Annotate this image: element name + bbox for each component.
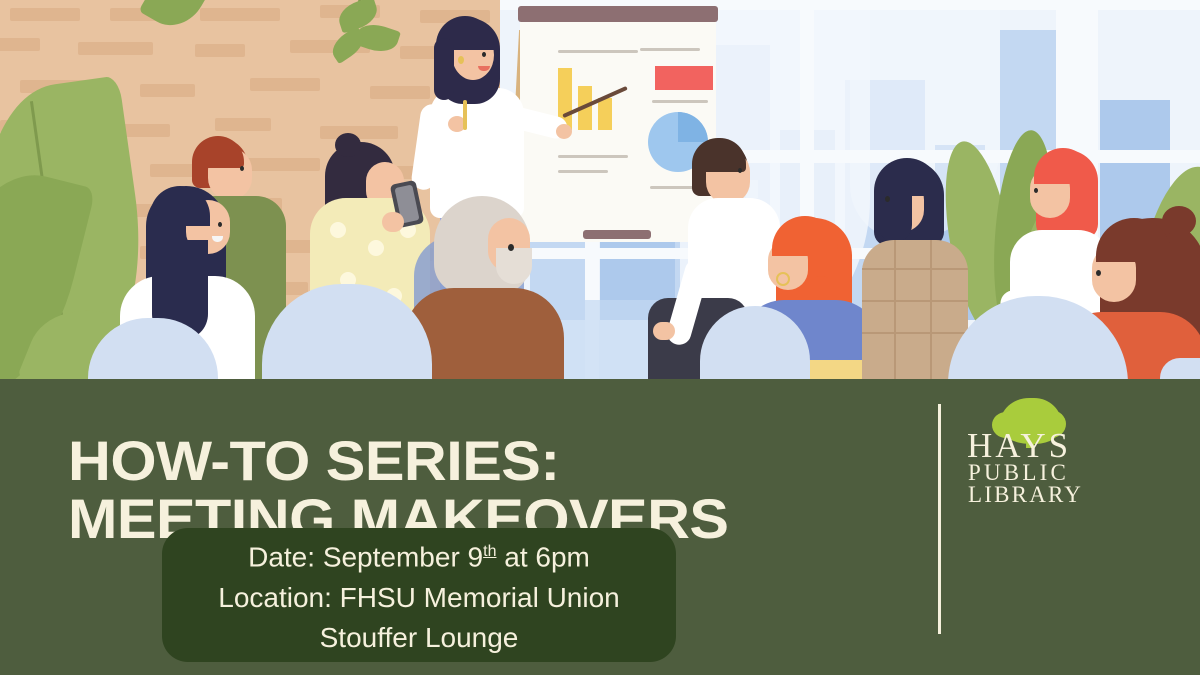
logo-text-library: LIBRARY bbox=[968, 482, 1083, 508]
flipchart-squiggle-5 bbox=[558, 170, 608, 173]
hays-public-library-logo: HAYS PUBLIC LIBRARY bbox=[962, 398, 1082, 508]
event-date-line: Date: September 9th at 6pm bbox=[248, 532, 590, 577]
illustration-artwork bbox=[0, 0, 1200, 379]
vertical-divider bbox=[938, 404, 941, 634]
event-location-line-1: Location: FHSU Memorial Union bbox=[218, 578, 620, 618]
flipchart-red-block bbox=[655, 66, 713, 90]
title-line-1: HOW-TO SERIES: bbox=[68, 432, 980, 490]
event-date-suffix: at 6pm bbox=[496, 542, 589, 573]
event-details-box: Date: September 9th at 6pm Location: FHS… bbox=[162, 528, 676, 662]
flipchart-bar-3 bbox=[598, 98, 612, 130]
event-date-ordinal: th bbox=[483, 543, 496, 560]
flipchart-squiggle-2 bbox=[640, 48, 700, 51]
flipchart-squiggle-3 bbox=[652, 100, 708, 103]
event-location-line-2: Stouffer Lounge bbox=[320, 618, 519, 658]
flipchart-squiggle-4 bbox=[558, 155, 628, 158]
event-date-prefix: Date: September 9 bbox=[248, 542, 483, 573]
flipchart-clamp-bottom bbox=[583, 230, 651, 239]
flipchart-squiggle-1 bbox=[558, 50, 638, 53]
flipchart-clamp-top bbox=[518, 6, 718, 22]
event-poster: HOW-TO SERIES: MEETING MAKEOVERS Date: S… bbox=[0, 0, 1200, 675]
